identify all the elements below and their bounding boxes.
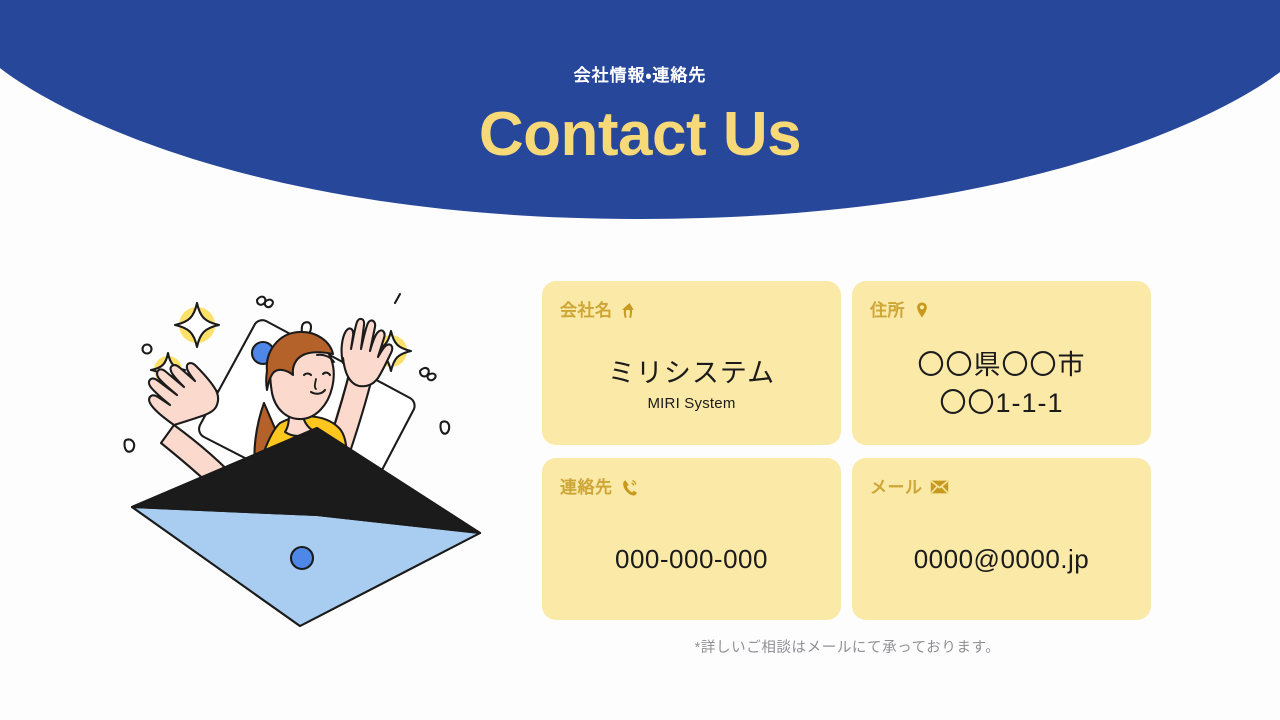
card-label-text: 住所	[870, 302, 905, 319]
card-label-email: メール	[870, 476, 1133, 498]
card-label-text: 連絡先	[560, 479, 613, 496]
phone-icon	[620, 478, 639, 497]
card-label-company-name: 会社名	[560, 299, 823, 321]
envelope-seal-dot	[291, 547, 313, 569]
company-name-value-en: MIRI System	[647, 395, 735, 412]
card-body-phone: 000-000-000	[542, 508, 841, 620]
info-card-company-name[interactable]: 会社名 ミリシステム MIRI System	[542, 281, 841, 445]
woman-in-envelope-illustration	[112, 275, 492, 640]
card-body-email: 0000@0000.jp	[852, 508, 1151, 620]
header-banner	[0, 0, 1280, 230]
card-label-phone: 連絡先	[560, 476, 823, 498]
phone-number-value: 000-000-000	[615, 543, 768, 577]
card-label-text: 会社名	[560, 302, 613, 319]
info-card-phone[interactable]: 連絡先 000-000-000	[542, 458, 841, 620]
map-pin-icon	[912, 301, 931, 320]
info-card-address[interactable]: 住所 〇〇県〇〇市 〇〇1-1-1	[852, 281, 1151, 445]
info-card-email[interactable]: メール 0000@0000.jp	[852, 458, 1151, 620]
banner-curve-shape	[0, 0, 1280, 219]
card-body-address: 〇〇県〇〇市 〇〇1-1-1	[852, 331, 1151, 445]
envelope-icon	[930, 478, 949, 497]
email-address-value: 0000@0000.jp	[914, 543, 1090, 577]
home-icon	[620, 301, 639, 320]
nose	[315, 379, 316, 389]
address-line-2: 〇〇1-1-1	[939, 384, 1063, 422]
footnote-text: *詳しいご相談はメールにて承っております。	[542, 636, 1153, 657]
card-body-company-name: ミリシステム MIRI System	[542, 331, 841, 445]
card-label-text: メール	[870, 479, 923, 496]
address-line-1: 〇〇県〇〇市	[918, 346, 1086, 384]
card-label-address: 住所	[870, 299, 1133, 321]
company-name-value: ミリシステム	[608, 356, 775, 391]
contact-info-card-grid: 会社名 ミリシステム MIRI System 住所 〇〇県〇〇市 〇〇1-1-1	[542, 281, 1153, 620]
